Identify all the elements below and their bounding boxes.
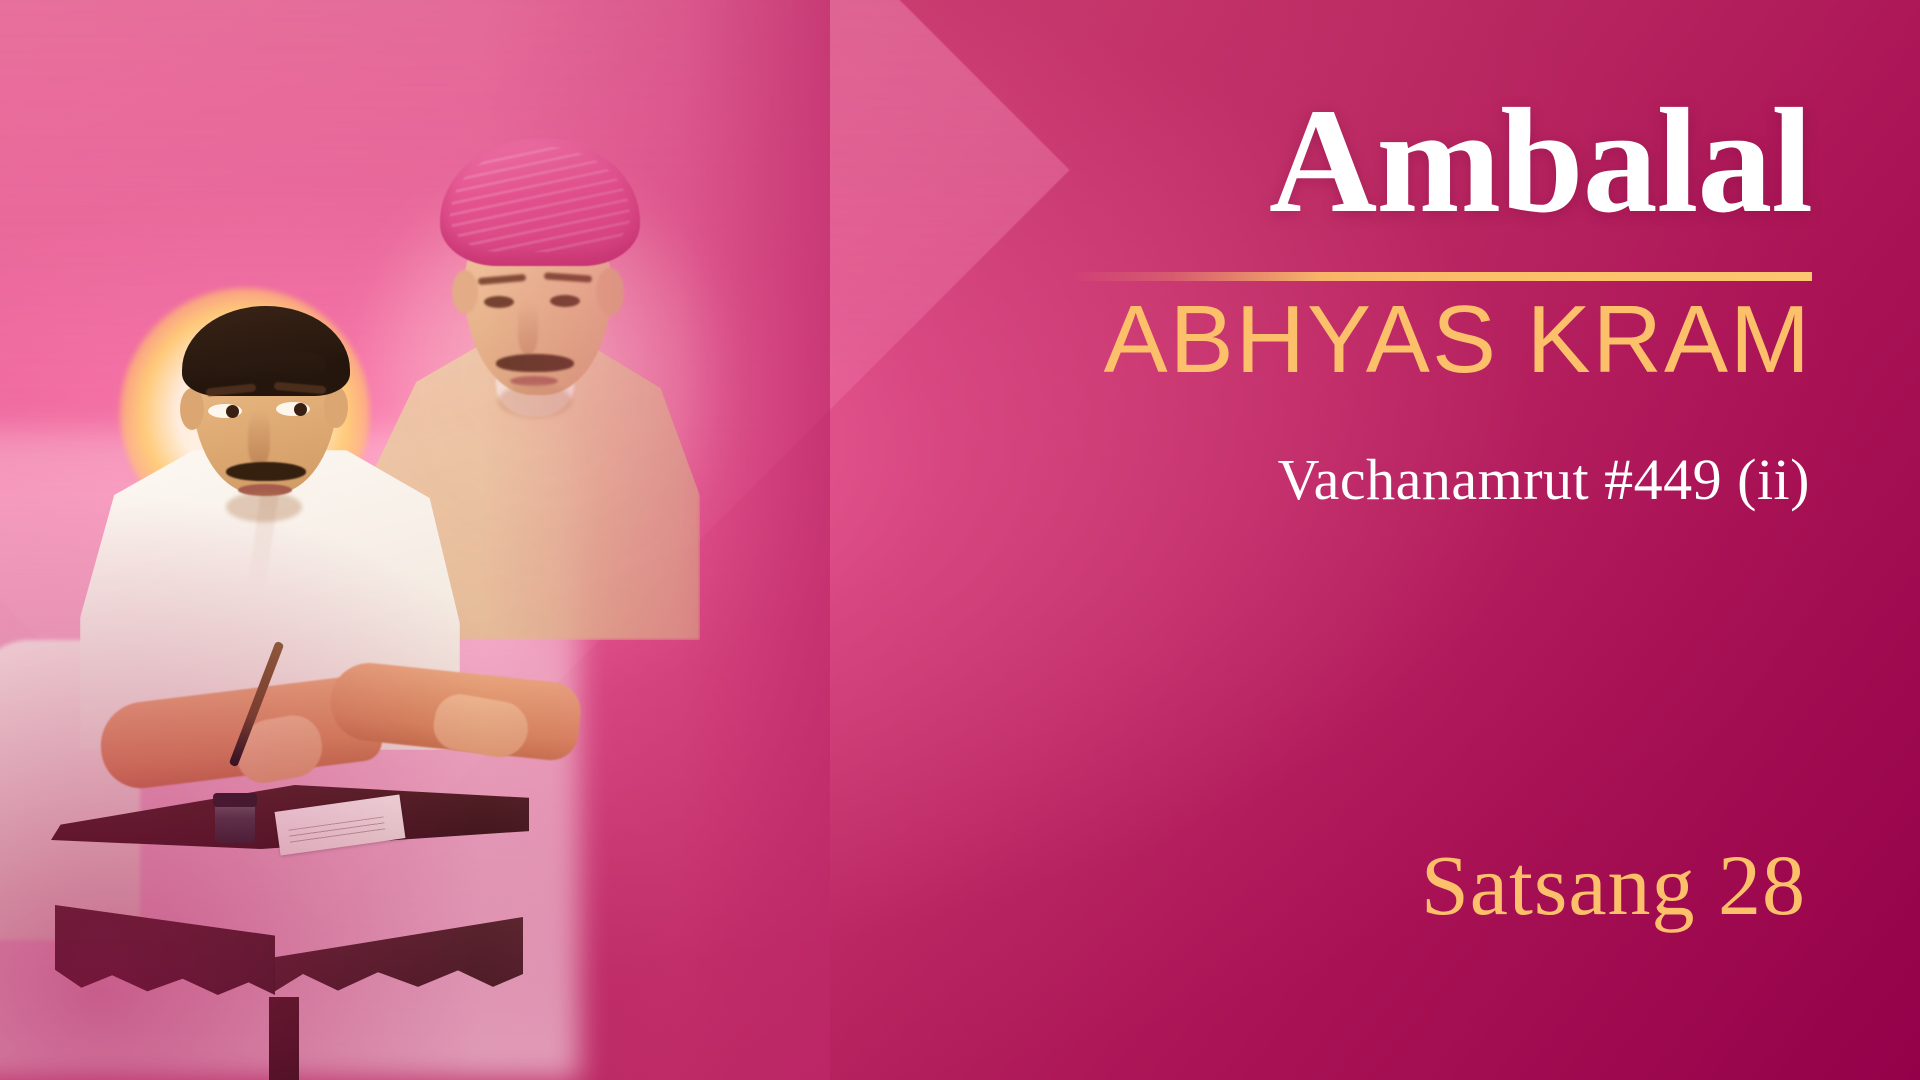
seated-figure-nose [248, 410, 270, 466]
inkpot-cap [213, 793, 257, 807]
seated-figure-chin [226, 492, 302, 522]
wooden-writing-desk [45, 785, 535, 1080]
seated-figure-ear-left [180, 388, 204, 430]
desk-leg-left [65, 971, 98, 1061]
gold-divider-rule [1067, 272, 1812, 281]
desk-leg-middle [269, 997, 299, 1080]
satsang-number: Satsang 28 [906, 838, 1806, 933]
seated-figure-hair [182, 306, 350, 396]
vachanamrut-reference: Vachanamrut #449 (ii) [910, 448, 1810, 512]
title-text-block: Ambalal ABHYAS KRAM Vachanamrut #449 (ii… [920, 0, 1820, 1080]
portrait-ear-right [596, 268, 624, 316]
seated-figure-pupil-right [294, 403, 307, 416]
page-subtitle: ABHYAS KRAM [912, 290, 1812, 391]
page-title: Ambalal [912, 86, 1812, 236]
seated-figure-moustache [226, 462, 306, 481]
seated-figure-pupil-left [226, 405, 239, 418]
artwork-illustration [0, 0, 830, 1080]
slide-canvas: Ambalal ABHYAS KRAM Vachanamrut #449 (ii… [0, 0, 1920, 1080]
